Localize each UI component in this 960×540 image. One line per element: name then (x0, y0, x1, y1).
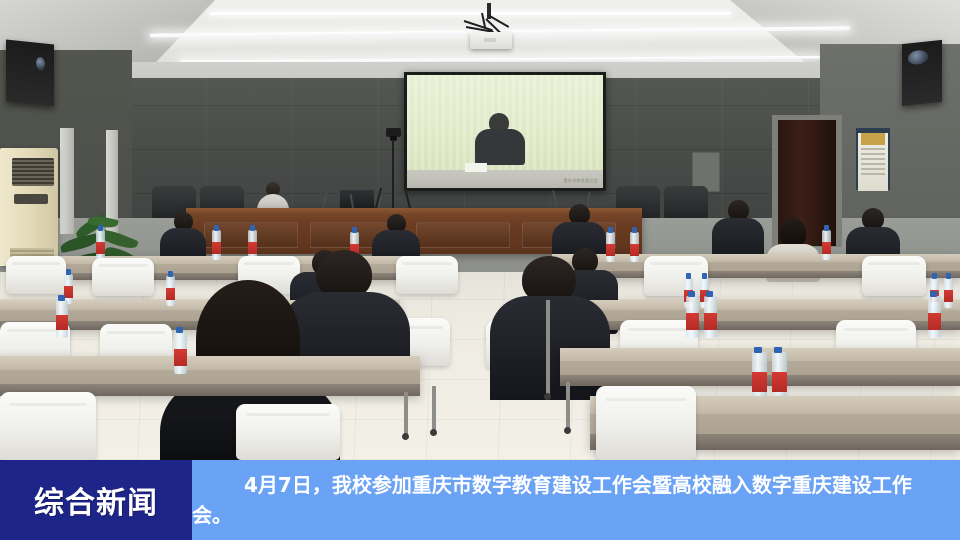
attendee-chair-foreground (0, 392, 96, 460)
water-bottle (772, 352, 787, 402)
table-top (0, 356, 420, 370)
notice-line (861, 153, 885, 155)
attendee-chair (6, 256, 66, 294)
attendee-chair (862, 256, 926, 296)
notice-line (861, 168, 885, 170)
bottle-label (96, 242, 105, 254)
bottle-label (704, 313, 717, 330)
caption-body: 4月7日，我校参加重庆市数字教育建设工作会暨高校融入数字重庆建设工作会。 (192, 460, 960, 540)
bottle-cap (754, 347, 762, 353)
bottle-cap (352, 227, 357, 233)
bottle-cap (58, 295, 65, 301)
head-table-panel (416, 222, 510, 248)
bottle-label (686, 313, 699, 330)
caption-line-1: 4月7日，我校参加重庆市数字教育建设工作会暨高校融入数字重庆建设工 (244, 473, 892, 497)
attendee-chair (92, 258, 154, 296)
bottle-cap (250, 225, 255, 231)
bottle-label (56, 315, 68, 330)
executive-chair (664, 186, 708, 218)
bottle-cap (932, 273, 937, 279)
water-bottle (212, 230, 221, 260)
bottle-label (944, 290, 953, 302)
bottle-cap (824, 225, 829, 231)
speaker-cone-left (36, 57, 45, 71)
attendee-table-foreground (0, 356, 420, 396)
bottle-cap (66, 269, 71, 275)
water-bottle (928, 296, 941, 338)
notice-line (861, 148, 885, 150)
ceiling-projector (470, 32, 512, 49)
table-leg (432, 386, 436, 432)
water-bottle (630, 232, 639, 262)
ac-vent-grille (12, 158, 54, 186)
laptop-on-head-table (340, 190, 375, 208)
notice-content (858, 133, 888, 191)
bottle-cap (168, 271, 173, 277)
bottle-label (928, 313, 941, 330)
table-leg (546, 300, 550, 396)
speaker-cone-right (908, 49, 928, 65)
projector-bracket-arms (462, 12, 518, 34)
attendee-chair-foreground (596, 386, 696, 460)
table-leg (404, 392, 408, 436)
water-bottle (96, 230, 105, 260)
bottle-cap (930, 291, 937, 297)
bottle-cap (98, 225, 103, 231)
wall-speaker-left (6, 39, 54, 106)
screen-speaker-body (475, 129, 525, 165)
bottle-cap (632, 227, 637, 233)
projection-screen: 重庆市教育委员会 (404, 72, 606, 191)
bottle-label (212, 242, 221, 254)
bottle-cap (176, 327, 183, 333)
bottle-cap (706, 291, 713, 297)
table-top (560, 300, 960, 310)
water-bottle (56, 300, 68, 338)
wall-speaker-right (902, 40, 942, 106)
bottle-cap (214, 225, 219, 231)
bottle-label (772, 372, 787, 392)
screenshot-root: 重庆市教育委员会 (0, 0, 960, 540)
water-bottle (944, 278, 953, 308)
bottle-cap (946, 273, 951, 279)
bottle-label (174, 349, 187, 366)
water-bottle (752, 352, 767, 402)
floor-air-conditioner (0, 148, 58, 266)
bottle-label (248, 242, 257, 254)
water-bottle (822, 230, 831, 260)
notice-line (861, 163, 885, 165)
bottle-cap (688, 291, 695, 297)
attendee-chair-foreground (236, 404, 340, 460)
bottle-cap (686, 273, 691, 279)
bottle-label (630, 244, 639, 256)
bottle-cap (702, 273, 707, 279)
attendee-chair (644, 256, 708, 296)
notice-line (861, 158, 885, 160)
water-bottle (686, 296, 699, 338)
screen-overlay-caption: 重庆市教育委员会 (564, 178, 598, 184)
projection-screen-image: 重庆市教育委员会 (407, 75, 603, 188)
bottle-label (822, 242, 831, 254)
bottle-label (64, 286, 73, 298)
notice-line (861, 173, 885, 175)
table-leg (566, 382, 570, 430)
bottle-label (752, 372, 767, 392)
caption-bar: 综合新闻 4月7日，我校参加重庆市数字教育建设工作会暨高校融入数字重庆建设工作会… (0, 460, 960, 540)
water-bottle (174, 332, 187, 374)
wall-notice-board (856, 128, 890, 190)
tripod-column (392, 140, 394, 190)
water-bottle (704, 296, 717, 338)
caption-category-label: 综合新闻 (0, 460, 192, 540)
bottle-cap (774, 347, 782, 353)
screen-papers (465, 163, 487, 172)
notice-badge (861, 133, 885, 145)
ac-control-panel (14, 194, 48, 204)
news-photo: 重庆市教育委员会 (0, 0, 960, 460)
caption-category-text: 综合新闻 (34, 478, 158, 522)
bottle-cap (608, 227, 613, 233)
